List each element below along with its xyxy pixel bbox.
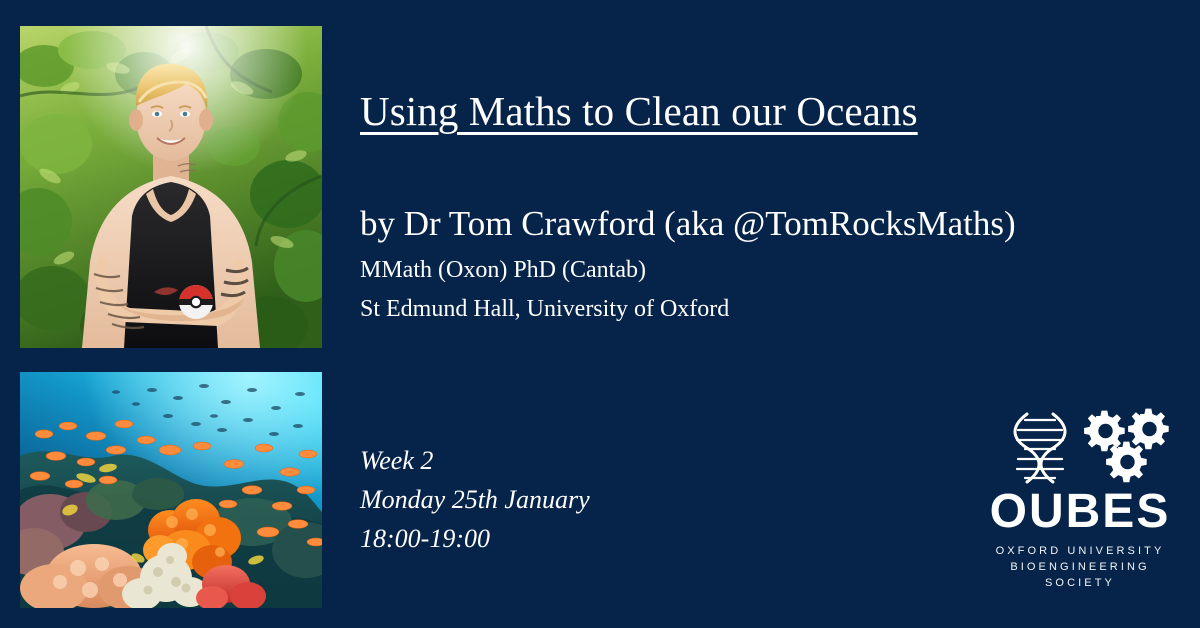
speaker-byline: by Dr Tom Crawford (aka @TomRocksMaths) <box>360 203 1016 245</box>
logo-tagline-line-2: BIOENGINEERING <box>975 559 1185 575</box>
gear-icon <box>1084 411 1125 452</box>
dna-helix-icon <box>1015 414 1065 482</box>
event-schedule: Week 2 Monday 25th January 18:00-19:00 <box>360 441 590 558</box>
page-title: Using Maths to Clean our Oceans <box>360 88 918 134</box>
schedule-date: Monday 25th January <box>360 480 590 519</box>
logo-mark-graphic <box>975 408 1185 486</box>
logo-tagline: OXFORD UNIVERSITY BIOENGINEERING SOCIETY <box>975 543 1185 591</box>
schedule-time: 18:00-19:00 <box>360 519 590 558</box>
logo-tagline-line-1: OXFORD UNIVERSITY <box>975 543 1185 559</box>
event-poster: Using Maths to Clean our Oceans by Dr To… <box>0 0 1200 628</box>
gear-icon <box>1128 409 1169 450</box>
oubes-logo: OUBES OXFORD UNIVERSITY BIOENGINEERING S… <box>975 408 1185 590</box>
coral-reef-photo <box>20 372 322 608</box>
speaker-portrait-photo <box>20 26 322 348</box>
logo-wordmark: OUBES <box>975 488 1185 536</box>
speaker-credential: MMath (Oxon) PhD (Cantab) <box>360 255 646 285</box>
gear-icon <box>1106 442 1147 483</box>
logo-tagline-line-3: SOCIETY <box>975 575 1185 591</box>
schedule-week: Week 2 <box>360 441 590 480</box>
speaker-affiliation: St Edmund Hall, University of Oxford <box>360 294 729 324</box>
